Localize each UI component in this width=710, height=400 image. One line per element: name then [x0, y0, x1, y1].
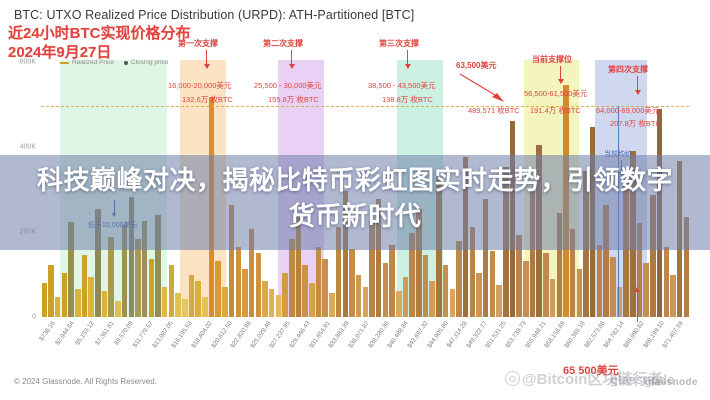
weibo-icon [505, 371, 520, 386]
bar [496, 285, 502, 317]
annotation-current-support-arrow [560, 66, 561, 83]
bar [670, 275, 676, 317]
bar [175, 293, 181, 317]
annotation-support-3-range: 38,500 - 43,500美元 [368, 80, 436, 91]
annotation-support-4-header: 第四次支撑 [608, 64, 648, 75]
bar [309, 283, 315, 317]
bar [182, 299, 188, 317]
bar [429, 281, 435, 317]
bar [102, 291, 108, 317]
bar [610, 257, 616, 317]
bar [450, 289, 456, 317]
bar [550, 279, 556, 317]
bar [302, 265, 308, 317]
glassnode-watermark: glassnode [610, 372, 674, 387]
bar [262, 281, 268, 317]
bar [256, 253, 262, 317]
bar [282, 273, 288, 317]
bar [490, 251, 496, 317]
annotation-support-1-range: 16,000-20,000美元 [168, 80, 231, 91]
bar [215, 261, 221, 317]
bar [242, 269, 248, 317]
annotation-support-4-range: 64,000-69,000美元 [596, 105, 659, 116]
x-tick-label: $7,361.61 [94, 320, 116, 347]
annotation-support-1-amount: 132.6万 枚BTC [182, 94, 233, 105]
bar [88, 277, 94, 317]
annotation-peak-amount: 489,571 枚BTC [468, 105, 520, 116]
bar [577, 269, 583, 317]
bar [423, 255, 429, 317]
bar [543, 253, 549, 317]
bar [202, 297, 208, 317]
annotation-current-support-amount: 191.4万 枚BTC [530, 105, 581, 116]
bar [42, 283, 48, 317]
x-tick-label: $736.16 [38, 320, 57, 342]
chart-title: BTC: UTXO Realized Price Distribution (U… [14, 8, 414, 22]
bar [289, 239, 295, 317]
bar [329, 293, 335, 317]
bar [356, 275, 362, 317]
bar [443, 265, 449, 317]
bar [523, 261, 529, 317]
bar [82, 255, 88, 317]
bar [396, 291, 402, 317]
annotation-support-4-amount: 207.8万 枚BTC [610, 118, 661, 129]
bottom-annotation-arrow [637, 288, 638, 322]
bar [55, 297, 61, 317]
bar [389, 245, 395, 317]
bar [189, 275, 195, 317]
bar [383, 263, 389, 317]
bar [195, 281, 201, 317]
bar [149, 259, 155, 317]
bar [476, 273, 482, 317]
x-tick-label: $2,944.64 [55, 320, 77, 347]
bar [363, 287, 369, 317]
annotation-support-3-amount: 138.8万 枚BTC [382, 94, 433, 105]
annotation-support-3-arrow [407, 50, 408, 68]
annotation-support-2-header: 第二次支撑 [263, 38, 303, 49]
bar [664, 247, 670, 317]
bar [349, 249, 355, 317]
annotation-peak-arrow [458, 72, 508, 104]
ath-dashed-line [41, 106, 689, 107]
annotation-current-support-header: 当前支撑位 [532, 54, 572, 65]
cn-headline-line2: 2024年9月27日 [8, 43, 191, 62]
bar [162, 287, 168, 317]
bar [456, 241, 462, 317]
overlay-title: 科技巅峰对决，揭秘比特币彩虹图实时走势，引领数字货币新时代 [0, 162, 710, 234]
annotation-support-2-arrow [291, 50, 292, 68]
bar [276, 295, 282, 317]
cn-headline: 近24小时BTC实现价格分布 2024年9月27日 [8, 24, 191, 62]
annotation-support-2-amount: 155.8万 枚BTC [268, 94, 319, 105]
bar [115, 301, 121, 317]
bar [169, 265, 175, 317]
bar [62, 273, 68, 317]
bar [75, 289, 81, 317]
bar [269, 289, 275, 317]
bar [597, 245, 603, 317]
bar [48, 265, 54, 317]
annotation-peak-header: 63,500美元 [456, 60, 496, 71]
annotation-support-1-header: 第一次支撑 [178, 38, 218, 49]
bar [316, 247, 322, 317]
x-tick-label: $5,153.12 [74, 320, 96, 347]
copyright-text: © 2024 Glassnode. All Rights Reserved. [14, 377, 157, 386]
bar [403, 277, 409, 317]
annotation-support-3-header: 第三次支撑 [379, 38, 419, 49]
cn-headline-line1: 近24小时BTC实现价格分布 [8, 25, 191, 42]
bar [643, 263, 649, 317]
bar [236, 247, 242, 317]
annotation-support-2-range: 25,500 - 30,000美元 [254, 80, 322, 91]
annotation-support-4-arrow [637, 76, 638, 94]
bar [222, 287, 228, 317]
y-tick-0: 0 [32, 314, 36, 321]
bar [322, 259, 328, 317]
annotation-current-support-range: 56,500-61,500美元 [524, 88, 587, 99]
y-tick-400k: 400K [20, 144, 36, 151]
bar [135, 239, 141, 317]
annotation-support-1-arrow [206, 50, 207, 68]
